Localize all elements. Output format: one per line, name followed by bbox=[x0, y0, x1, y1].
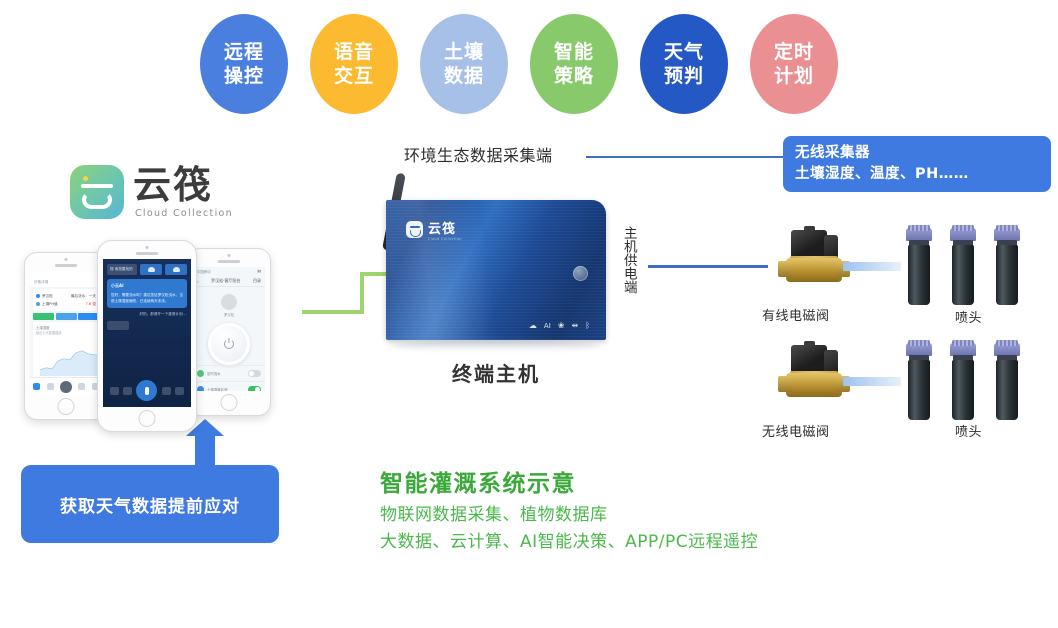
wireless-collector-callout: 无线采集器 土壤湿度、温度、PH…… bbox=[783, 136, 1051, 192]
assistant-message-bubble: 小云AI 您好，需要浇水吗？建议您给罗汉松浇水，当前土壤湿度偏低，已连续两天未浇… bbox=[107, 279, 187, 308]
status-led-blue bbox=[197, 386, 204, 391]
sprinkler-bottom-label: 喷头 bbox=[955, 421, 982, 440]
power-button[interactable] bbox=[573, 266, 588, 281]
feature-bubble-row: 远程 操控 语音 交互 土壤 数据 智能 策略 天气 预判 定时 计划 bbox=[200, 14, 838, 114]
phone-left-range-tabs[interactable] bbox=[33, 313, 99, 320]
bubble-line2: 预判 bbox=[664, 64, 704, 88]
weather-callout-box: 获取天气数据提前应对 bbox=[21, 465, 279, 543]
tabbar-timer-icon[interactable] bbox=[78, 383, 85, 390]
ai-icon: AI bbox=[544, 322, 551, 330]
console-brand-cn: 云筏 bbox=[428, 218, 462, 237]
bubble-line2: 策略 bbox=[554, 64, 594, 88]
wired-solenoid-valve bbox=[778, 230, 850, 292]
sprinkler-top-label: 喷头 bbox=[955, 307, 982, 326]
summary-line2: 大数据、云计算、AI智能决策、APP/PC远程遥控 bbox=[380, 527, 758, 552]
feature-bubble-voice-interaction[interactable]: 语音 交互 bbox=[310, 14, 398, 114]
camera-dot bbox=[65, 258, 68, 261]
battery-icon: ▮▮ bbox=[257, 269, 261, 274]
camera-icon[interactable] bbox=[123, 387, 132, 395]
wireless-solenoid-valve bbox=[778, 345, 850, 407]
host-power-label: 主机供电端 bbox=[618, 226, 638, 298]
phone-left-screen: 设备详情 罗汉松 最后浇水：一天 土壤PH值 7.6 湿 bbox=[30, 271, 102, 395]
back-icon[interactable]: ‹ bbox=[197, 279, 199, 284]
weather-icon[interactable] bbox=[165, 264, 187, 275]
user-message-text: 好的，那请开一个灌溉计划... bbox=[108, 312, 186, 317]
camera-dot bbox=[228, 254, 231, 257]
console-shadow bbox=[392, 340, 600, 352]
power-knob-button[interactable] bbox=[208, 323, 250, 365]
connector-collector-line bbox=[586, 156, 786, 158]
phone-left-info-card: 罗汉松 最后浇水：一天 土壤PH值 7.6 湿 bbox=[33, 289, 99, 311]
console-status-icons: ☁ AI ❀ ⇹ ᛒ bbox=[529, 321, 590, 330]
cloud-collection-icon bbox=[70, 165, 124, 219]
chart-subtitle: 最近七天数据曲线 bbox=[36, 330, 96, 335]
device-name: 罗汉松 bbox=[193, 312, 265, 317]
speaker-grille bbox=[55, 264, 77, 267]
tab-1year[interactable] bbox=[78, 313, 99, 320]
phone-middle-assistant[interactable]: 搜 索您要找的 小云AI 您好，需要浇水吗？建议您给罗汉松浇水，当前土壤湿度偏低… bbox=[97, 240, 197, 432]
console-brand-en: Cloud Collection bbox=[428, 237, 462, 241]
feature-bubble-smart-strategy[interactable]: 智能 策略 bbox=[530, 14, 618, 114]
nav-menu-button[interactable]: 目录 bbox=[253, 278, 261, 284]
console-caption: 终端主机 bbox=[378, 358, 614, 387]
assistant-topbar[interactable]: 搜 索您要找的 bbox=[103, 259, 191, 275]
item-label: 土壤湿度监测 bbox=[207, 387, 227, 391]
ph-label: 土壤PH值 bbox=[42, 302, 58, 307]
sprinkler-top-3 bbox=[994, 228, 1020, 306]
connector-green-lower bbox=[302, 310, 364, 314]
device-avatar bbox=[221, 294, 237, 310]
phone-right-screen: 中国移动 ▮▮ ‹ 罗汉松-客厅阳台 目录 罗汉松 定时浇水 bbox=[193, 267, 265, 391]
brand-name-en: Cloud Collection bbox=[135, 208, 233, 219]
bubble-line2: 交互 bbox=[334, 64, 374, 88]
home-button[interactable] bbox=[221, 394, 238, 411]
bubble-line1: 土壤 bbox=[444, 40, 484, 64]
summary-line1: 物联网数据采集、植物数据库 bbox=[380, 500, 608, 525]
callout-line1: 无线采集器 bbox=[795, 143, 1039, 164]
sprinkler-top-2 bbox=[950, 228, 976, 306]
plant-name: 罗汉松 bbox=[42, 294, 53, 299]
phone-left-tabbar[interactable] bbox=[30, 377, 102, 395]
phone-middle-screen: 搜 索您要找的 小云AI 您好，需要浇水吗？建议您给罗汉松浇水，当前土壤湿度偏低… bbox=[103, 259, 191, 407]
microphone-button[interactable] bbox=[136, 380, 157, 401]
bubble-line1: 智能 bbox=[554, 40, 594, 64]
cloud-icon[interactable] bbox=[140, 264, 162, 275]
toggle-on[interactable] bbox=[248, 386, 261, 391]
bubble-line1: 语音 bbox=[334, 40, 374, 64]
phone-right-control[interactable]: 中国移动 ▮▮ ‹ 罗汉松-客厅阳台 目录 罗汉松 定时浇水 bbox=[187, 248, 271, 416]
sprinkler-bottom-3 bbox=[994, 343, 1020, 421]
infographic-canvas: 远程 操控 语音 交互 土壤 数据 智能 策略 天气 预判 定时 计划 云筏 bbox=[0, 0, 1058, 628]
host-power-text: 主机供电端 bbox=[620, 226, 636, 294]
bubble-line1: 天气 bbox=[664, 40, 704, 64]
connector-power-line bbox=[648, 265, 768, 268]
callout-line2: 土壤湿度、温度、PH…… bbox=[795, 164, 1039, 185]
ph-value: 7.6 湿 bbox=[86, 302, 96, 307]
tab-7days[interactable] bbox=[33, 313, 54, 320]
speaker-grille bbox=[218, 260, 240, 263]
phone-left-title: 设备详情 bbox=[30, 278, 102, 287]
cloud-icon: ☁ bbox=[529, 321, 537, 330]
phone-right-item-timer[interactable]: 定时浇水 bbox=[193, 365, 265, 381]
water-flow-bottom bbox=[843, 377, 901, 386]
reply-chip bbox=[107, 321, 129, 330]
phone-left-dashboard[interactable]: 设备详情 罗汉松 最后浇水：一天 土壤PH值 7.6 湿 bbox=[24, 252, 108, 420]
collector-label: 环境生态数据采集端 bbox=[404, 142, 553, 166]
search-input[interactable]: 搜 索您要找的 bbox=[107, 264, 137, 275]
bubble-line2: 操控 bbox=[224, 64, 264, 88]
carrier-label: 中国移动 bbox=[197, 269, 211, 274]
phone-right-navbar[interactable]: ‹ 罗汉松-客厅阳台 目录 bbox=[193, 276, 265, 287]
speaker-grille bbox=[136, 252, 158, 255]
sprinkler-bottom-2 bbox=[950, 343, 976, 421]
menu-icon[interactable] bbox=[175, 387, 184, 395]
camera-dot bbox=[146, 246, 149, 249]
tabbar-home-icon[interactable] bbox=[33, 383, 40, 390]
tab-30days[interactable] bbox=[56, 313, 77, 320]
console-brand: 云筏 Cloud Collection bbox=[406, 218, 462, 241]
feature-bubble-remote-control[interactable]: 远程 操控 bbox=[200, 14, 288, 114]
bubble-line2: 数据 bbox=[444, 64, 484, 88]
terminal-host-device: 云筏 Cloud Collection ☁ AI ❀ ⇹ ᛒ 终端主机 bbox=[378, 172, 614, 382]
water-flow-top bbox=[843, 262, 901, 271]
phone-right-item-moisture[interactable]: 土壤湿度监测 bbox=[193, 381, 265, 391]
phone-left-chart: 土壤湿度 最近七天数据曲线 bbox=[33, 322, 99, 384]
assistant-message-text: 您好，需要浇水吗？建议您给罗汉松浇水，当前土壤湿度偏低，已连续两天未浇。 bbox=[111, 293, 183, 303]
bluetooth-icon: ᛒ bbox=[585, 321, 590, 330]
last-water: 最后浇水：一天 bbox=[71, 294, 96, 299]
sprinkler-top-1 bbox=[906, 228, 932, 306]
brand-name-cn: 云筏 bbox=[133, 166, 233, 204]
home-button[interactable] bbox=[58, 398, 75, 415]
wired-valve-label: 有线电磁阀 bbox=[762, 305, 830, 324]
console-body: 云筏 Cloud Collection ☁ AI ❀ ⇹ ᛒ bbox=[386, 200, 606, 340]
wireless-valve-label: 无线电磁阀 bbox=[762, 421, 830, 440]
tabbar-stats-icon[interactable] bbox=[47, 383, 54, 390]
weather-callout-text: 获取天气数据提前应对 bbox=[60, 492, 240, 517]
assistant-toolbar[interactable] bbox=[103, 380, 191, 401]
network-icon: ⇹ bbox=[571, 321, 578, 330]
keyboard-icon[interactable] bbox=[110, 387, 119, 395]
nav-title: 罗汉松-客厅阳台 bbox=[211, 278, 240, 284]
brand-text: 云筏 Cloud Collection bbox=[133, 166, 233, 219]
cloud-collection-icon bbox=[406, 221, 423, 238]
phone-mockup-group: 设备详情 罗汉松 最后浇水：一天 土壤PH值 7.6 湿 bbox=[24, 240, 286, 432]
toggle-off[interactable] bbox=[248, 370, 261, 377]
wifi-icon: ❀ bbox=[558, 321, 565, 330]
status-led-green bbox=[197, 370, 204, 377]
item-label: 定时浇水 bbox=[207, 371, 221, 376]
bubble-line1: 定时 bbox=[774, 40, 814, 64]
connector-green-vertical bbox=[360, 272, 364, 314]
summary-title: 智能灌溉系统示意 bbox=[380, 464, 576, 498]
sprinkler-bottom-1 bbox=[906, 343, 932, 421]
brand-logo: 云筏 Cloud Collection bbox=[70, 165, 233, 219]
bubble-line2: 计划 bbox=[774, 64, 814, 88]
photo-icon[interactable] bbox=[162, 387, 171, 395]
feature-bubble-scheduled-plan[interactable]: 定时 计划 bbox=[750, 14, 838, 114]
assistant-name: 小云AI bbox=[111, 283, 183, 290]
feature-bubble-weather-forecast[interactable]: 天气 预判 bbox=[640, 14, 728, 114]
home-button[interactable] bbox=[139, 410, 156, 427]
status-bar: 中国移动 ▮▮ bbox=[193, 267, 265, 276]
tabbar-mic-icon[interactable] bbox=[60, 381, 72, 393]
bubble-line1: 远程 bbox=[224, 40, 264, 64]
feature-bubble-soil-data[interactable]: 土壤 数据 bbox=[420, 14, 508, 114]
